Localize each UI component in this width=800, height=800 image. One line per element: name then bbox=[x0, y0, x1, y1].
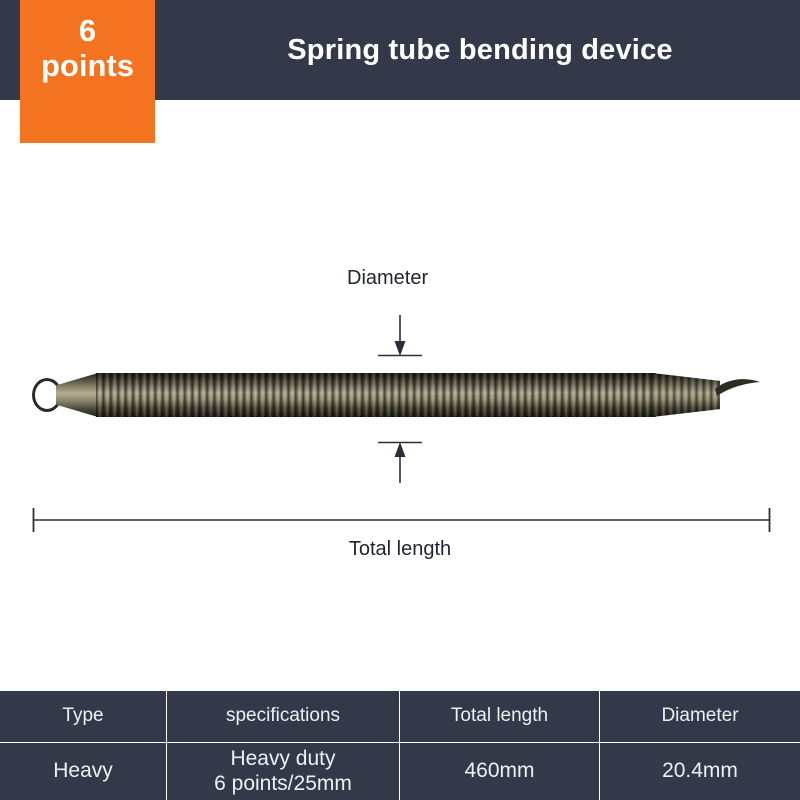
table-header-specifications: specifications bbox=[167, 691, 400, 742]
spring-right-taper bbox=[652, 373, 720, 417]
spec-table: Type specifications Total length Diamete… bbox=[0, 691, 800, 800]
cell-specifications-line1: Heavy duty bbox=[214, 747, 352, 772]
total-length-dimension-line bbox=[33, 508, 770, 532]
cell-diameter-value: 20.4mm bbox=[600, 743, 800, 800]
table-header-row: Type specifications Total length Diamete… bbox=[0, 691, 800, 743]
page-title: Spring tube bending device bbox=[160, 0, 800, 100]
cell-specifications-line2: 6 points/25mm bbox=[214, 772, 352, 797]
spring-wire-tail bbox=[714, 375, 762, 401]
product-diagram: Diameter Total length bbox=[0, 100, 800, 691]
table-header-total-length: Total length bbox=[400, 691, 600, 742]
badge-number: 6 bbox=[79, 14, 96, 48]
spring-coil-body bbox=[96, 373, 656, 417]
diameter-arrow-top bbox=[378, 315, 422, 356]
table-header-type: Type bbox=[0, 691, 167, 742]
badge-word: points bbox=[41, 48, 134, 84]
spring-illustration bbox=[0, 355, 800, 435]
spring-left-taper bbox=[56, 373, 98, 417]
cell-specifications-value: Heavy duty 6 points/25mm bbox=[167, 743, 400, 800]
cell-total-length-value: 460mm bbox=[400, 743, 600, 800]
table-row: Heavy Heavy duty 6 points/25mm 460mm 20.… bbox=[0, 743, 800, 800]
table-header-diameter: Diameter bbox=[600, 691, 800, 742]
cell-type-value: Heavy bbox=[0, 743, 167, 800]
diameter-arrow-bottom bbox=[378, 442, 422, 483]
